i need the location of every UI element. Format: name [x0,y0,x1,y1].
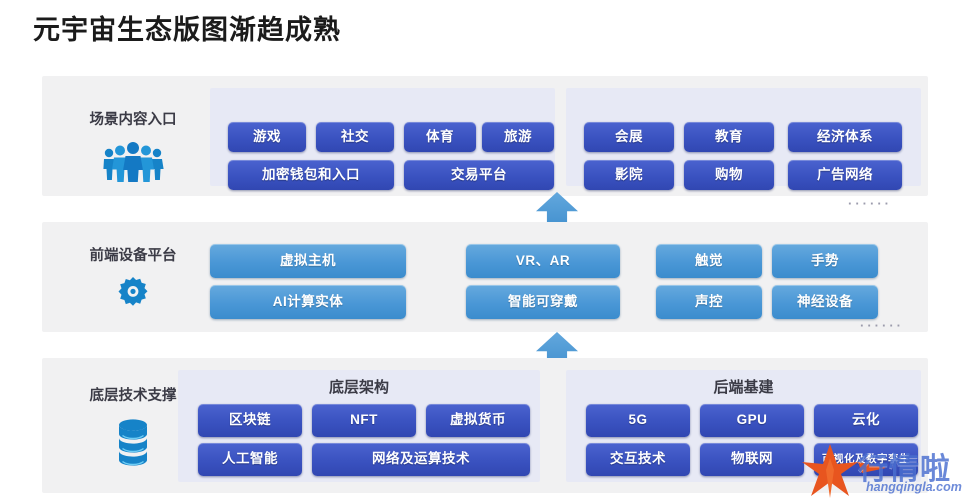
btn-tech-可视化及数字孪生[interactable]: 可视化及数字孪生 [814,443,918,476]
ellipsis-scene: ······ [848,196,892,211]
btn-scene-游戏[interactable]: 游戏 [228,122,306,152]
panel-architecture: 底层架构 区块链 NFT 虚拟货币 人工智能 网络及运算技术 [178,370,540,482]
btn-frontend-VR-AR[interactable]: VR、AR [466,244,620,278]
panel-backend: 后端基建 5G GPU 云化 交互技术 物联网 可视化及数字孪生 [566,370,921,482]
btn-scene-交易平台[interactable]: 交易平台 [404,160,554,190]
btn-frontend-智能可穿戴[interactable]: 智能可穿戴 [466,285,620,319]
btn-frontend-声控[interactable]: 声控 [656,285,762,319]
layer-foundational-tech-support: 底层技术支撑 底层架构 区块链 NFT 虚拟货币 人工智能 网络及运算技术 后端… [42,358,928,493]
btn-tech-云化[interactable]: 云化 [814,404,918,437]
panel-title-architecture: 底层架构 [178,376,540,397]
btn-tech-5G[interactable]: 5G [586,404,690,437]
btn-tech-网络及运算技术[interactable]: 网络及运算技术 [312,443,530,476]
btn-tech-区块链[interactable]: 区块链 [198,404,302,437]
btn-scene-体育[interactable]: 体育 [404,122,476,152]
layer-label-scene: 场景内容入口 [68,108,198,129]
panel-scene-right: 会展 教育 经济体系 影院 购物 广告网络 [566,88,921,186]
ellipsis-frontend: ······ [860,318,904,333]
btn-frontend-触觉[interactable]: 触觉 [656,244,762,278]
gear-icon [68,274,198,316]
page-title: 元宇宙生态版图渐趋成熟 [33,8,341,47]
btn-scene-影院[interactable]: 影院 [584,160,674,190]
btn-scene-加密钱包和入口[interactable]: 加密钱包和入口 [228,160,394,190]
layer-frontend-device-platform: 前端设备平台 虚拟主机 VR、AR 触觉 手势 AI计算实体 智能可穿戴 声控 … [42,222,928,332]
btn-frontend-AI计算实体[interactable]: AI计算实体 [210,285,406,319]
btn-scene-购物[interactable]: 购物 [684,160,774,190]
btn-frontend-手势[interactable]: 手势 [772,244,878,278]
btn-tech-NFT[interactable]: NFT [312,404,416,437]
btn-tech-物联网[interactable]: 物联网 [700,443,804,476]
btn-scene-会展[interactable]: 会展 [584,122,674,152]
panel-title-backend: 后端基建 [566,376,921,397]
btn-tech-交互技术[interactable]: 交互技术 [586,443,690,476]
btn-frontend-神经设备[interactable]: 神经设备 [772,285,878,319]
layer-label-frontend: 前端设备平台 [68,244,198,265]
btn-tech-虚拟货币[interactable]: 虚拟货币 [426,404,530,437]
btn-tech-人工智能[interactable]: 人工智能 [198,443,302,476]
btn-scene-广告网络[interactable]: 广告网络 [788,160,902,190]
btn-scene-教育[interactable]: 教育 [684,122,774,152]
panel-scene-left: 游戏 社交 体育 旅游 加密钱包和入口 交易平台 [210,88,555,186]
btn-scene-旅游[interactable]: 旅游 [482,122,554,152]
btn-scene-经济体系[interactable]: 经济体系 [788,122,902,152]
people-group-icon [68,140,198,184]
layer-scene-content-entry: 场景内容入口 游戏 社交 体育 旅游 加密钱包和 [42,76,928,196]
btn-tech-GPU[interactable]: GPU [700,404,804,437]
btn-frontend-虚拟主机[interactable]: 虚拟主机 [210,244,406,278]
btn-scene-社交[interactable]: 社交 [316,122,394,152]
